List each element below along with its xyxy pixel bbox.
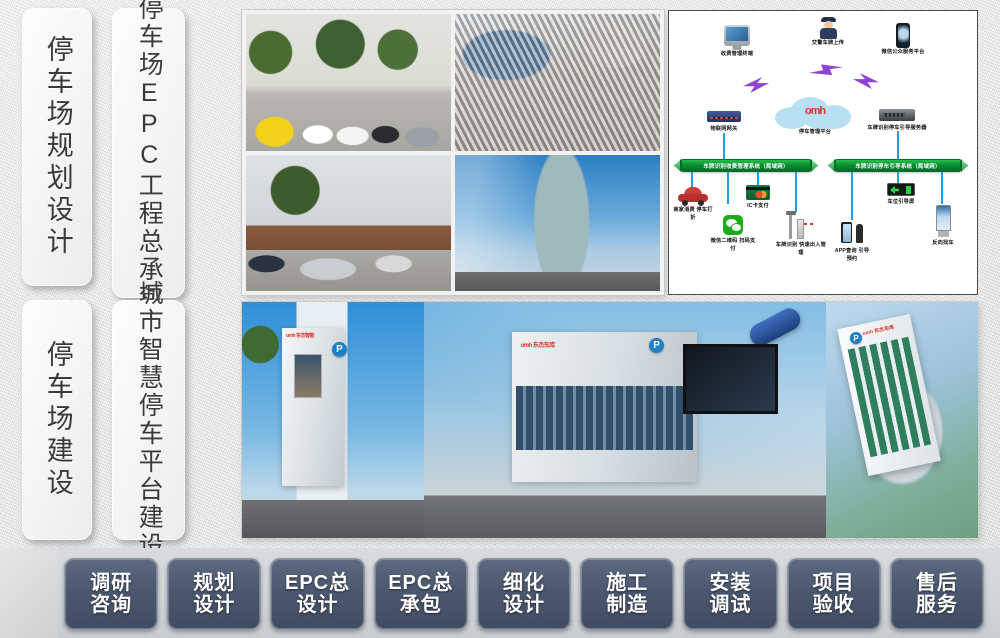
brand-logo: omh 东杰智能	[286, 332, 314, 339]
system-bar-label: 车牌识别收费管理系统（局域网）	[703, 162, 788, 170]
diagram-node-label: 商家消费 停车打折	[673, 207, 713, 222]
diagram-node-wechat-qr-payment: 微信二维码 扫码支付	[709, 215, 757, 253]
photo-surface-parking-lot	[246, 14, 451, 151]
diagram-node-label: 收费管理终端	[707, 51, 767, 59]
diagram-wire	[727, 172, 729, 204]
diagram-wire	[757, 172, 759, 186]
photo-office-tower	[455, 155, 660, 292]
diagram-node-label: APP查询 引导 预约	[833, 248, 871, 263]
process-step-detailed-design[interactable]: 细化 设计	[477, 558, 571, 630]
sidebar-card-parking-planning-design[interactable]: 停车场规划设计	[22, 8, 92, 286]
diagram-node-cloud-platform: omh 停车管理平台	[773, 95, 857, 137]
car-icon	[678, 187, 708, 204]
system-architecture-diagram: omh 停车管理平台 收费管理终端 交警车牌上传 微信公众服务平台	[668, 10, 978, 295]
omh-logo: omh	[797, 105, 833, 117]
diagram-node-iot-gateway: 物联网网关	[691, 111, 757, 134]
monitor-icon	[724, 25, 750, 46]
diagram-node-label: 反向找车	[925, 240, 961, 248]
rendering-strip: omh 东杰智能 P omh 东杰车库 P omh 东杰车库 P	[242, 302, 978, 538]
photo-aerial-parking-lot	[455, 14, 660, 151]
diagram-wire	[897, 131, 899, 161]
mobile-app-icon	[841, 221, 863, 245]
lightning-link-icon	[743, 77, 769, 93]
parking-badge-icon: P	[332, 342, 347, 357]
photo-collage	[242, 10, 664, 295]
diagram-node-guidance-server: 车牌识别停车引导服务器	[855, 109, 939, 133]
diagram-node-label: IC卡支付	[737, 203, 779, 211]
led-billboard	[683, 344, 777, 414]
smartphone-icon	[896, 23, 910, 48]
process-step-research-consulting[interactable]: 调研 咨询	[64, 558, 158, 630]
garage-building: omh 东杰车库	[512, 332, 697, 482]
rendering-aerial-tower: omh 东杰车库 P	[826, 302, 978, 538]
photo-lot-beside-brick-building	[246, 155, 451, 292]
slide-background: 停车场规划设计 停车场EPC工程总承包 停车场建设 城市智慧停车平台建设 omh…	[0, 0, 1000, 638]
process-step-row: 调研 咨询 规划 设计 EPC总 设计 EPC总 承包 细化 设计 施工 制造 …	[58, 556, 990, 632]
ic-card-icon	[746, 185, 770, 200]
kiosk-icon	[936, 205, 951, 237]
lightning-link-icon	[853, 73, 879, 89]
diagram-node-label: 交警车牌上传	[797, 40, 859, 48]
diagram-node-label: 微信公众服务平台	[865, 49, 941, 57]
server-icon	[879, 109, 915, 121]
process-step-construction-manufacturing[interactable]: 施工 制造	[580, 558, 674, 630]
diagram-node-app-query-guidance: APP查询 引导 预约	[833, 221, 871, 263]
tower-facade	[848, 337, 932, 457]
cloud-icon: omh	[773, 95, 857, 129]
wechat-icon	[723, 215, 743, 235]
process-step-epc-design[interactable]: EPC总 设计	[270, 558, 364, 630]
diagram-node-reverse-car-finding: 反向找车	[925, 205, 961, 248]
brand-logo: omh 东杰车库	[862, 324, 895, 337]
system-bar-label: 车牌识别停车引导系统（局域网）	[855, 162, 940, 170]
sidebar-card-parking-epc-contract[interactable]: 停车场EPC工程总承包	[112, 8, 185, 298]
diagram-wire	[723, 133, 725, 161]
diagram-node-wechat-public-platform: 微信公众服务平台	[865, 23, 941, 57]
rendering-street-garage: omh 东杰车库 P	[424, 302, 826, 538]
diagram-wire	[851, 172, 853, 220]
diagram-node-space-guidance-screen: 车位引导屏	[881, 183, 921, 207]
diagram-node-label: 车位引导屏	[881, 199, 921, 207]
system-bar-lpr-guidance-system: 车牌识别停车引导系统（局域网）	[835, 159, 961, 172]
diagram-wire	[691, 172, 693, 188]
rendering-tower-garage: omh 东杰智能 P	[242, 302, 424, 538]
process-step-after-sales-service[interactable]: 售后 服务	[890, 558, 984, 630]
diagram-wire	[941, 172, 943, 204]
process-step-epc-contracting[interactable]: EPC总 承包	[374, 558, 468, 630]
slanted-car-icon	[746, 305, 804, 350]
barrier-gate-icon	[786, 211, 816, 239]
sidebar-card-parking-construction[interactable]: 停车场建设	[22, 300, 92, 540]
diagram-node-label: 停车管理平台	[773, 129, 857, 137]
diagram-node-ic-card-payment: IC卡支付	[737, 185, 779, 211]
police-officer-icon	[820, 17, 837, 39]
diagram-node-toll-terminal: 收费管理终端	[707, 25, 767, 59]
process-step-planning-design[interactable]: 规划 设计	[167, 558, 261, 630]
diagram-node-merchant-discount: 商家消费 停车打折	[673, 187, 713, 222]
diagram-node-traffic-police-upload: 交警车牌上传	[797, 17, 859, 48]
sidebar-card-label: 城市智慧停车平台建设	[136, 280, 162, 560]
led-guidance-screen-icon	[887, 183, 915, 196]
billboard	[294, 354, 322, 398]
parking-badge-icon: P	[850, 332, 862, 344]
diagram-node-label: 车牌识别 快速出入管理	[775, 242, 827, 257]
sidebar-card-smart-parking-platform[interactable]: 城市智慧停车平台建设	[112, 300, 185, 540]
diagram-wire	[795, 172, 797, 212]
gateway-icon	[707, 111, 741, 122]
process-step-installation-commissioning[interactable]: 安装 调试	[683, 558, 777, 630]
diagram-node-label: 微信二维码 扫码支付	[709, 238, 757, 253]
sidebar-card-label: 停车场规划设计	[43, 35, 71, 259]
process-step-project-acceptance[interactable]: 项目 验收	[787, 558, 881, 630]
sidebar-card-label: 停车场EPC工程总承包	[136, 0, 162, 312]
glass-facade	[516, 386, 693, 450]
lightning-link-icon	[808, 58, 845, 83]
sidebar-card-label: 停车场建设	[43, 340, 71, 500]
brand-logo: omh 东杰车库	[520, 340, 554, 349]
diagram-node-lpr-entry-exit: 车牌识别 快速出入管理	[775, 211, 827, 257]
system-bar-lpr-toll-system: 车牌识别收费管理系统（局域网）	[681, 159, 811, 172]
